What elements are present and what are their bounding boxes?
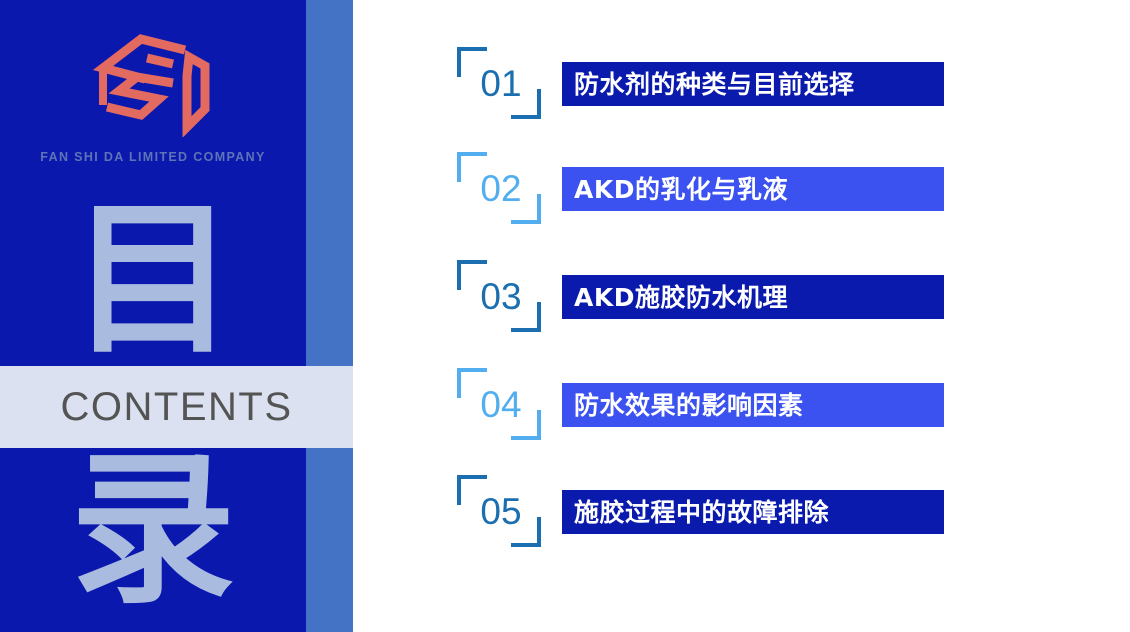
toc-item-05[interactable]: 05 施胶过程中的故障排除 xyxy=(455,471,1130,553)
toc-title-bar[interactable]: 施胶过程中的故障排除 xyxy=(562,490,944,534)
toc-number-label: 01 xyxy=(455,43,547,125)
toc-title-label: 防水剂的种类与目前选择 xyxy=(574,72,855,97)
toc-title-bar[interactable]: 防水效果的影响因素 xyxy=(562,383,944,427)
toc-title-bar[interactable]: AKD施胶防水机理 xyxy=(562,275,944,319)
toc-number-bracket-03: 03 xyxy=(455,256,547,338)
toc-title-bar[interactable]: 防水剂的种类与目前选择 xyxy=(562,62,944,106)
toc-number-bracket-02: 02 xyxy=(455,148,547,230)
toc-title-label: AKD的乳化与乳液 xyxy=(574,177,788,202)
toc-number-label: 04 xyxy=(455,364,547,446)
cjk-character-mu: 目 xyxy=(0,198,306,363)
company-logo xyxy=(0,28,306,140)
toc-number-bracket-04: 04 xyxy=(455,364,547,446)
contents-band: CONTENTS xyxy=(0,366,353,448)
toc-number-bracket-01: 01 xyxy=(455,43,547,125)
toc-title-label: 施胶过程中的故障排除 xyxy=(574,500,829,525)
toc-item-03[interactable]: 03 AKD施胶防水机理 xyxy=(455,256,1130,338)
contents-label: CONTENTS xyxy=(61,385,293,430)
table-of-contents: 01 防水剂的种类与目前选择 02 AKD的乳化与乳液 03 A xyxy=(455,0,1130,632)
toc-item-02[interactable]: 02 AKD的乳化与乳液 xyxy=(455,148,1130,230)
toc-title-bar[interactable]: AKD的乳化与乳液 xyxy=(562,167,944,211)
toc-number-label: 02 xyxy=(455,148,547,230)
toc-item-04[interactable]: 04 防水效果的影响因素 xyxy=(455,364,1130,446)
toc-title-label: AKD施胶防水机理 xyxy=(574,285,788,310)
slide-canvas: FAN SHI DA LIMITED COMPANY 目 录 CONTENTS … xyxy=(0,0,1130,632)
toc-title-label: 防水效果的影响因素 xyxy=(574,393,804,418)
toc-number-bracket-05: 05 xyxy=(455,471,547,553)
toc-item-01[interactable]: 01 防水剂的种类与目前选择 xyxy=(455,43,1130,125)
company-name: FAN SHI DA LIMITED COMPANY xyxy=(0,150,306,164)
cjk-character-lu: 录 xyxy=(0,448,306,613)
toc-number-label: 05 xyxy=(455,471,547,553)
toc-number-label: 03 xyxy=(455,256,547,338)
fsd-cube-logo-icon xyxy=(89,31,217,137)
left-accent-strip xyxy=(306,0,353,632)
